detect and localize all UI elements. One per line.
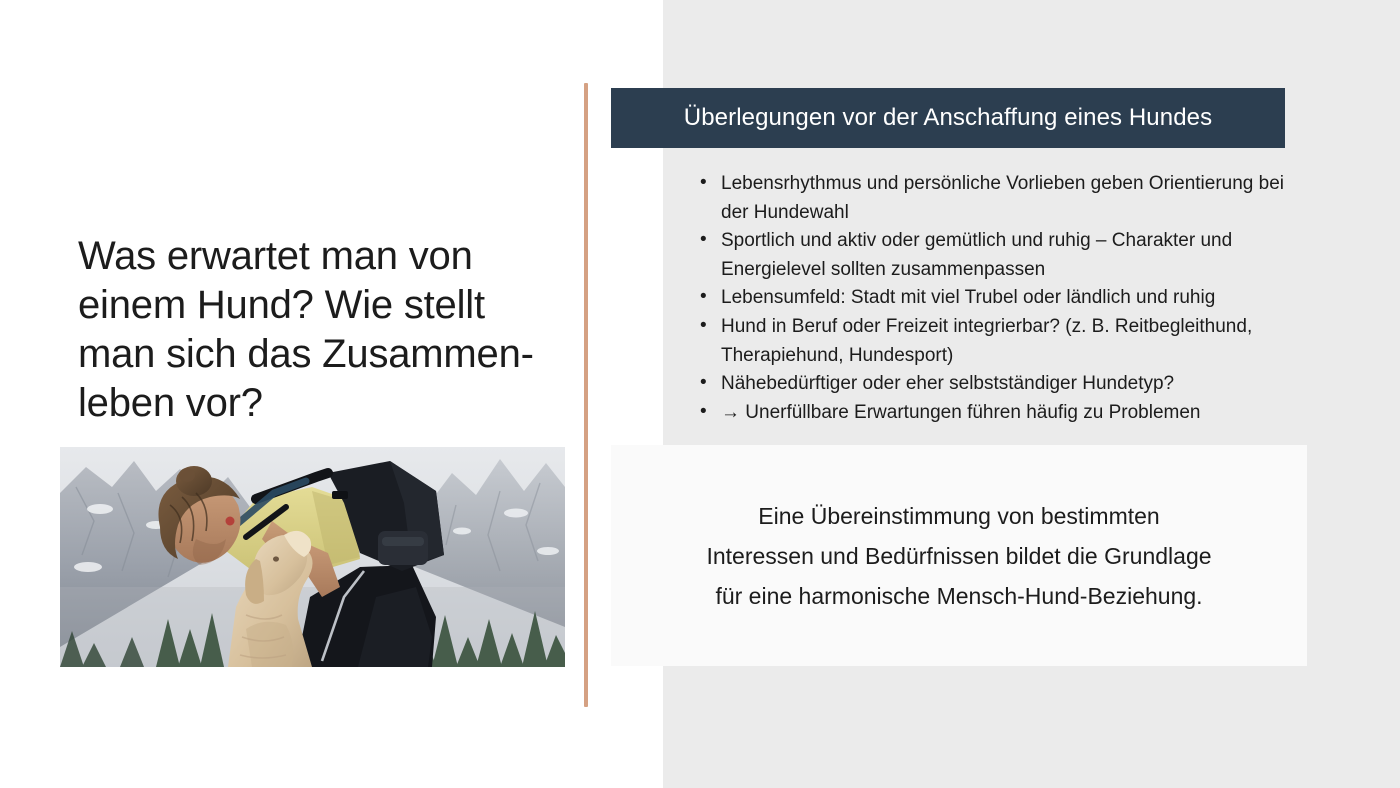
section-header-text: Überlegungen vor der Anschaffung eines H… bbox=[684, 104, 1212, 132]
page-title-line: einem Hund? Wie stellt bbox=[78, 283, 485, 327]
conclusion-callout-text: Eine Übereinstimmung von bestimmten Inte… bbox=[682, 496, 1235, 616]
page-title: Was erwartet man von einem Hund? Wie ste… bbox=[78, 232, 578, 428]
list-item: Lebensumfeld: Stadt mit viel Trubel oder… bbox=[694, 284, 1294, 313]
page-title-line: Was erwartet man von bbox=[78, 234, 473, 278]
callout-line: Eine Übereinstimmung von bestimmten bbox=[706, 496, 1211, 536]
page-title-line: leben vor? bbox=[78, 381, 263, 425]
section-header-banner: Überlegungen vor der Anschaffung eines H… bbox=[611, 88, 1285, 148]
callout-line: für eine harmonische Mensch-Hund-Beziehu… bbox=[706, 576, 1211, 616]
hiker-with-dog-photo bbox=[60, 447, 565, 667]
list-item: Lebensrhythmus und persönliche Vorlieben… bbox=[694, 170, 1294, 227]
list-item: → Unerfüllbare Erwartungen führen häufig… bbox=[694, 399, 1294, 428]
callout-line: Interessen und Bedürfnissen bildet die G… bbox=[706, 536, 1211, 576]
conclusion-callout-box: Eine Übereinstimmung von bestimmten Inte… bbox=[611, 445, 1307, 666]
list-item: Nähebedürftiger oder eher selbstständige… bbox=[694, 370, 1294, 399]
list-item: Hund in Beruf oder Freizeit integrierbar… bbox=[694, 313, 1294, 370]
list-item: Sportlich und aktiv oder gemütlich und r… bbox=[694, 227, 1294, 284]
page-title-line: man sich das Zusammen- bbox=[78, 332, 534, 376]
vertical-accent-divider bbox=[584, 83, 588, 707]
slide-canvas: Was erwartet man von einem Hund? Wie ste… bbox=[0, 0, 1400, 788]
considerations-bullet-list: Lebensrhythmus und persönliche Vorlieben… bbox=[694, 170, 1294, 427]
